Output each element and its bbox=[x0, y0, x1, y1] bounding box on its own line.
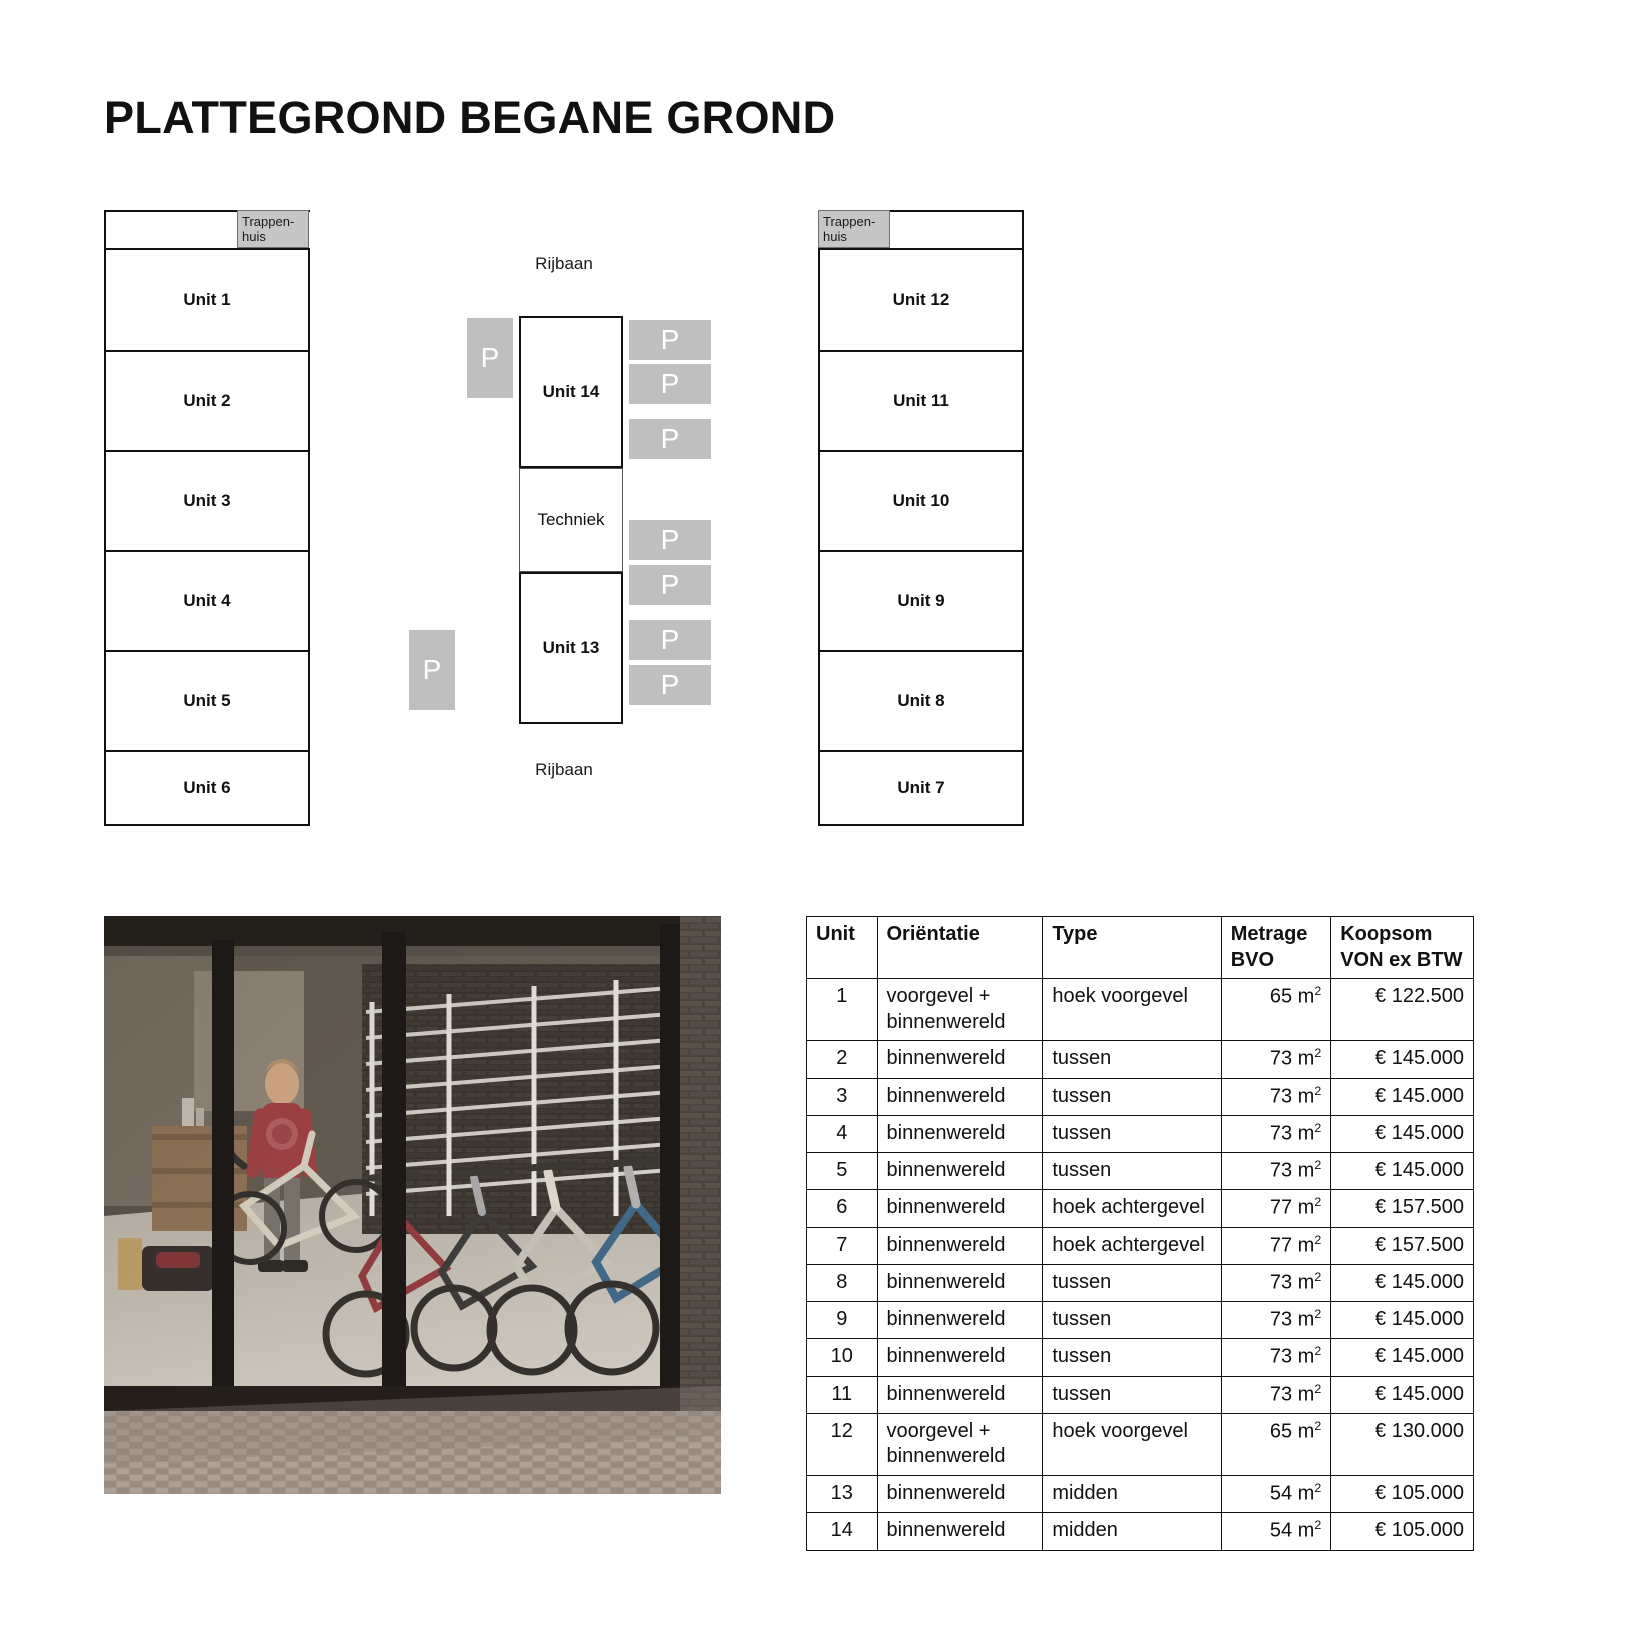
parking-spot-3[interactable]: P bbox=[629, 320, 711, 360]
floorplan-unit-5-label: Unit 5 bbox=[183, 691, 230, 711]
cell-metrage: 73 m2 bbox=[1221, 1115, 1331, 1152]
cell-type: tussen bbox=[1043, 1264, 1221, 1301]
lane-label-top: Rijbaan bbox=[535, 254, 593, 274]
stairwell-right-label-line2: huis bbox=[823, 229, 889, 244]
cell-unit: 5 bbox=[807, 1153, 878, 1190]
cell-unit: 1 bbox=[807, 979, 878, 1041]
th-unit: Unit bbox=[807, 917, 878, 979]
cell-unit: 10 bbox=[807, 1339, 878, 1376]
cell-type: tussen bbox=[1043, 1041, 1221, 1078]
cell-koopsom: € 130.000 bbox=[1331, 1413, 1474, 1475]
cell-koopsom: € 105.000 bbox=[1331, 1513, 1474, 1550]
floorplan-unit-8-label: Unit 8 bbox=[897, 691, 944, 711]
parking-symbol: P bbox=[661, 624, 680, 656]
cell-type: tussen bbox=[1043, 1153, 1221, 1190]
th-metrage-line2: BVO bbox=[1231, 948, 1322, 974]
cell-unit: 14 bbox=[807, 1513, 878, 1550]
cell-orientatie: voorgevel + binnenwereld bbox=[877, 1413, 1043, 1475]
cell-metrage: 65 m2 bbox=[1221, 979, 1331, 1041]
cell-type: midden bbox=[1043, 1476, 1221, 1513]
cell-type: tussen bbox=[1043, 1339, 1221, 1376]
table-row[interactable]: 10binnenwereldtussen73 m2€ 145.000 bbox=[807, 1339, 1474, 1376]
cell-type: midden bbox=[1043, 1513, 1221, 1550]
stairwell-left-label-line1: Trappen- bbox=[242, 214, 308, 229]
th-koopsom: Koopsom VON ex BTW bbox=[1331, 917, 1474, 979]
photo-illustration bbox=[104, 916, 721, 1494]
cell-unit: 3 bbox=[807, 1078, 878, 1115]
th-metrage-line1: Metrage bbox=[1231, 922, 1322, 948]
cell-type: hoek achtergevel bbox=[1043, 1227, 1221, 1264]
table-header-row: Unit Oriëntatie Type Metrage BVO Koopsom… bbox=[807, 917, 1474, 979]
cell-metrage: 54 m2 bbox=[1221, 1513, 1331, 1550]
units-price-table: Unit Oriëntatie Type Metrage BVO Koopsom… bbox=[806, 916, 1474, 1551]
cell-orientatie: voorgevel + binnenwereld bbox=[877, 979, 1043, 1041]
cell-type: hoek voorgevel bbox=[1043, 1413, 1221, 1475]
cell-metrage: 73 m2 bbox=[1221, 1264, 1331, 1301]
cell-koopsom: € 145.000 bbox=[1331, 1153, 1474, 1190]
floorplan-top-opening bbox=[310, 208, 818, 212]
floorplan-unit-9-label: Unit 9 bbox=[897, 591, 944, 611]
floorplan-unit-6-label: Unit 6 bbox=[183, 778, 230, 798]
floorplan-unit-13-label: Unit 13 bbox=[543, 638, 600, 658]
parking-symbol: P bbox=[481, 342, 500, 374]
th-type: Type bbox=[1043, 917, 1221, 979]
floorplan-unit-8[interactable]: Unit 8 bbox=[818, 650, 1024, 752]
cell-koopsom: € 157.500 bbox=[1331, 1190, 1474, 1227]
cell-orientatie: binnenwereld bbox=[877, 1302, 1043, 1339]
cell-metrage: 73 m2 bbox=[1221, 1078, 1331, 1115]
cell-orientatie: binnenwereld bbox=[877, 1264, 1043, 1301]
cell-unit: 4 bbox=[807, 1115, 878, 1152]
table-row[interactable]: 3binnenwereldtussen73 m2€ 145.000 bbox=[807, 1078, 1474, 1115]
cell-metrage: 77 m2 bbox=[1221, 1190, 1331, 1227]
floorplan-bottom-opening bbox=[310, 822, 818, 826]
cell-type: tussen bbox=[1043, 1376, 1221, 1413]
cell-unit: 11 bbox=[807, 1376, 878, 1413]
floorplan-unit-1-label: Unit 1 bbox=[183, 290, 230, 310]
lane-label-bottom: Rijbaan bbox=[535, 760, 593, 780]
cell-koopsom: € 145.000 bbox=[1331, 1376, 1474, 1413]
floorplan-unit-1[interactable]: Unit 1 bbox=[104, 248, 310, 352]
cell-orientatie: binnenwereld bbox=[877, 1513, 1043, 1550]
table-row[interactable]: 14binnenwereldmidden54 m2€ 105.000 bbox=[807, 1513, 1474, 1550]
cell-metrage: 73 m2 bbox=[1221, 1153, 1331, 1190]
parking-symbol: P bbox=[661, 669, 680, 701]
parking-spot-2[interactable]: P bbox=[409, 630, 455, 710]
cell-orientatie: binnenwereld bbox=[877, 1227, 1043, 1264]
cell-metrage: 54 m2 bbox=[1221, 1476, 1331, 1513]
cell-koopsom: € 145.000 bbox=[1331, 1115, 1474, 1152]
cell-type: tussen bbox=[1043, 1078, 1221, 1115]
floorplan-unit-11[interactable]: Unit 11 bbox=[818, 350, 1024, 452]
floorplan-unit-12-label: Unit 12 bbox=[893, 290, 950, 310]
cell-type: hoek voorgevel bbox=[1043, 979, 1221, 1041]
th-koopsom-line2: VON ex BTW bbox=[1340, 948, 1464, 974]
cell-unit: 12 bbox=[807, 1413, 878, 1475]
cell-orientatie: binnenwereld bbox=[877, 1476, 1043, 1513]
cell-unit: 9 bbox=[807, 1302, 878, 1339]
table-row[interactable]: 9binnenwereldtussen73 m2€ 145.000 bbox=[807, 1302, 1474, 1339]
th-orientatie: Oriëntatie bbox=[877, 917, 1043, 979]
floorplan-unit-6[interactable]: Unit 6 bbox=[104, 750, 310, 826]
page-title: PLATTEGROND BEGANE GROND bbox=[104, 92, 835, 144]
parking-symbol: P bbox=[661, 423, 680, 455]
table-row[interactable]: 1voorgevel + binnenwereldhoek voorgevel6… bbox=[807, 979, 1474, 1041]
cell-type: tussen bbox=[1043, 1115, 1221, 1152]
cell-metrage: 73 m2 bbox=[1221, 1041, 1331, 1078]
parking-spot-4[interactable]: P bbox=[629, 364, 711, 404]
cell-metrage: 73 m2 bbox=[1221, 1302, 1331, 1339]
table-row[interactable]: 11binnenwereldtussen73 m2€ 145.000 bbox=[807, 1376, 1474, 1413]
table-row[interactable]: 12voorgevel + binnenwereldhoek voorgevel… bbox=[807, 1413, 1474, 1475]
parking-spot-6[interactable]: P bbox=[629, 520, 711, 560]
floorplan-unit-7[interactable]: Unit 7 bbox=[818, 750, 1024, 826]
stairwell-left-label-line2: huis bbox=[242, 229, 308, 244]
cell-koopsom: € 157.500 bbox=[1331, 1227, 1474, 1264]
th-metrage: Metrage BVO bbox=[1221, 917, 1331, 979]
floorplan-unit-4-label: Unit 4 bbox=[183, 591, 230, 611]
floorplan-unit-3[interactable]: Unit 3 bbox=[104, 450, 310, 552]
cell-metrage: 73 m2 bbox=[1221, 1376, 1331, 1413]
floorplan-unit-5[interactable]: Unit 5 bbox=[104, 650, 310, 752]
cell-unit: 7 bbox=[807, 1227, 878, 1264]
parking-spot-1[interactable]: P bbox=[467, 318, 513, 398]
cell-metrage: 73 m2 bbox=[1221, 1339, 1331, 1376]
cell-unit: 13 bbox=[807, 1476, 878, 1513]
parking-symbol: P bbox=[661, 524, 680, 556]
parking-symbol: P bbox=[661, 368, 680, 400]
floorplan-unit-11-label: Unit 11 bbox=[893, 391, 949, 411]
cell-type: tussen bbox=[1043, 1302, 1221, 1339]
cell-koopsom: € 122.500 bbox=[1331, 979, 1474, 1041]
floorplan-technical-room: Techniek bbox=[519, 468, 623, 572]
parking-symbol: P bbox=[661, 324, 680, 356]
cell-type: hoek achtergevel bbox=[1043, 1190, 1221, 1227]
cell-koopsom: € 145.000 bbox=[1331, 1041, 1474, 1078]
stairwell-left: Trappen- huis bbox=[237, 210, 309, 248]
technical-room-label: Techniek bbox=[537, 510, 604, 530]
cell-orientatie: binnenwereld bbox=[877, 1339, 1043, 1376]
floorplan-unit-4[interactable]: Unit 4 bbox=[104, 550, 310, 652]
floorplan-unit-2[interactable]: Unit 2 bbox=[104, 350, 310, 452]
bicycle-storage-photo bbox=[104, 916, 721, 1494]
floorplan-unit-2-label: Unit 2 bbox=[183, 391, 230, 411]
cell-orientatie: binnenwereld bbox=[877, 1190, 1043, 1227]
parking-spot-8[interactable]: P bbox=[629, 620, 711, 660]
floorplan-unit-9[interactable]: Unit 9 bbox=[818, 550, 1024, 652]
table-row[interactable]: 13binnenwereldmidden54 m2€ 105.000 bbox=[807, 1476, 1474, 1513]
floorplan-unit-7-label: Unit 7 bbox=[897, 778, 944, 798]
table-body: 1voorgevel + binnenwereldhoek voorgevel6… bbox=[807, 979, 1474, 1550]
table-row[interactable]: 7binnenwereldhoek achtergevel77 m2€ 157.… bbox=[807, 1227, 1474, 1264]
cell-unit: 8 bbox=[807, 1264, 878, 1301]
cell-koopsom: € 145.000 bbox=[1331, 1264, 1474, 1301]
cell-koopsom: € 105.000 bbox=[1331, 1476, 1474, 1513]
table-row[interactable]: 8binnenwereldtussen73 m2€ 145.000 bbox=[807, 1264, 1474, 1301]
table-row[interactable]: 6binnenwereldhoek achtergevel77 m2€ 157.… bbox=[807, 1190, 1474, 1227]
stairwell-right: Trappen- huis bbox=[818, 210, 890, 248]
parking-spot-7[interactable]: P bbox=[629, 565, 711, 605]
cell-orientatie: binnenwereld bbox=[877, 1153, 1043, 1190]
table-row[interactable]: 2binnenwereldtussen73 m2€ 145.000 bbox=[807, 1041, 1474, 1078]
parking-symbol: P bbox=[423, 654, 442, 686]
table-row[interactable]: 4binnenwereldtussen73 m2€ 145.000 bbox=[807, 1115, 1474, 1152]
floorplan-unit-10[interactable]: Unit 10 bbox=[818, 450, 1024, 552]
floorplan-unit-10-label: Unit 10 bbox=[893, 491, 950, 511]
cell-orientatie: binnenwereld bbox=[877, 1078, 1043, 1115]
cell-metrage: 77 m2 bbox=[1221, 1227, 1331, 1264]
floorplan-unit-12[interactable]: Unit 12 bbox=[818, 248, 1024, 352]
cell-metrage: 65 m2 bbox=[1221, 1413, 1331, 1475]
stairwell-right-label-line1: Trappen- bbox=[823, 214, 889, 229]
floorplan-unit-3-label: Unit 3 bbox=[183, 491, 230, 511]
cell-koopsom: € 145.000 bbox=[1331, 1078, 1474, 1115]
cell-koopsom: € 145.000 bbox=[1331, 1302, 1474, 1339]
floorplan-unit-14[interactable]: Unit 14 bbox=[519, 316, 623, 468]
cell-unit: 6 bbox=[807, 1190, 878, 1227]
cell-unit: 2 bbox=[807, 1041, 878, 1078]
parking-spot-5[interactable]: P bbox=[629, 419, 711, 459]
cell-orientatie: binnenwereld bbox=[877, 1376, 1043, 1413]
cell-orientatie: binnenwereld bbox=[877, 1041, 1043, 1078]
floorplan-diagram: Unit 1 Unit 2 Unit 3 Unit 4 Unit 5 Unit … bbox=[104, 210, 1024, 824]
parking-spot-9[interactable]: P bbox=[629, 665, 711, 705]
parking-symbol: P bbox=[661, 569, 680, 601]
cell-koopsom: € 145.000 bbox=[1331, 1339, 1474, 1376]
table-row[interactable]: 5binnenwereldtussen73 m2€ 145.000 bbox=[807, 1153, 1474, 1190]
floorplan-unit-13[interactable]: Unit 13 bbox=[519, 572, 623, 724]
cell-orientatie: binnenwereld bbox=[877, 1115, 1043, 1152]
floorplan-unit-14-label: Unit 14 bbox=[543, 382, 600, 402]
th-koopsom-line1: Koopsom bbox=[1340, 922, 1464, 948]
